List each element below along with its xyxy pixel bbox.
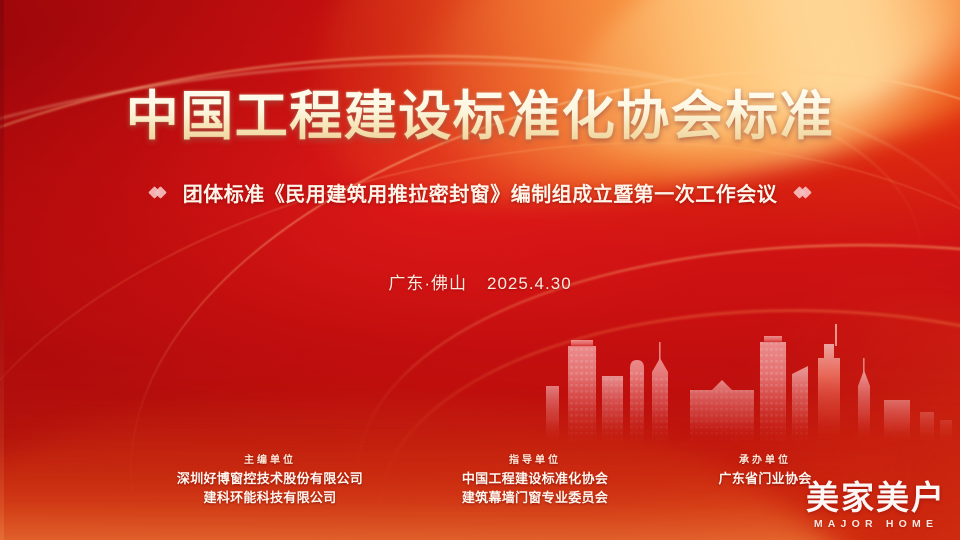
poster-title: 中国工程建设标准化协会标准	[0, 88, 960, 146]
poster-canvas: 中国工程建设标准化协会标准 团体标准《民用建筑用推拉密封窗》编制组成立暨第一次工…	[0, 0, 960, 540]
credit-heading: 承办单位	[680, 451, 850, 466]
credit-column-guidance: 指导单位 中国工程建设标准化协会 建筑幕墙门窗专业委员会	[435, 451, 635, 508]
credit-line: 建科环能科技有限公司	[150, 489, 390, 508]
watermark-brand-en: MAJOR HOME	[806, 518, 946, 530]
credit-heading: 主编单位	[150, 451, 390, 466]
event-location: 广东·佛山	[388, 274, 467, 293]
credit-heading: 指导单位	[435, 451, 635, 466]
credit-column-chief-editor: 主编单位 深圳好博窗控技术股份有限公司 建科环能科技有限公司	[150, 451, 390, 508]
event-date: 2025.4.30	[487, 274, 572, 293]
credit-line: 中国工程建设标准化协会	[435, 470, 635, 489]
poster-subtitle: 团体标准《民用建筑用推拉密封窗》编制组成立暨第一次工作会议	[183, 178, 778, 207]
credit-line: 深圳好博窗控技术股份有限公司	[150, 470, 390, 489]
poster-subtitle-row: 团体标准《民用建筑用推拉密封窗》编制组成立暨第一次工作会议	[0, 178, 960, 207]
city-skyline-icon	[540, 324, 960, 444]
diamond-ornament-left-icon	[150, 185, 165, 200]
watermark-logo: 美家美户 MAJOR HOME	[806, 481, 946, 530]
watermark-brand-cn: 美家美户	[806, 481, 946, 514]
credit-line: 建筑幕墙门窗专业委员会	[435, 489, 635, 508]
event-location-date: 广东·佛山2025.4.30	[0, 269, 960, 294]
diamond-ornament-right-icon	[795, 185, 810, 200]
credits-section: 主编单位 深圳好博窗控技术股份有限公司 建科环能科技有限公司 指导单位 中国工程…	[150, 451, 850, 508]
